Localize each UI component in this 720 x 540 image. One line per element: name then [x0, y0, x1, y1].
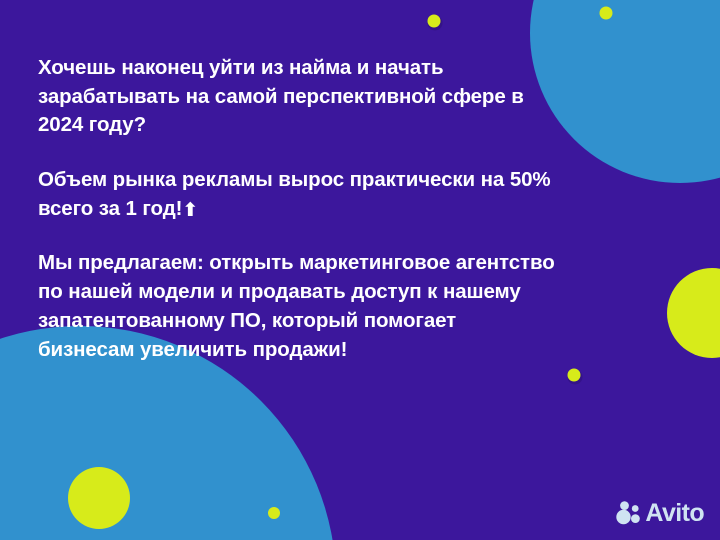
offer-text: Мы предлагаем: открыть маркетинговое аге…	[38, 249, 558, 364]
avito-dots-mark-icon	[615, 500, 641, 526]
up-arrow-icon: ⬆	[182, 201, 198, 220]
lime-dot-top-center	[428, 15, 441, 28]
avito-logo: Avito	[615, 498, 704, 528]
lime-dot-mid-right	[568, 369, 581, 382]
lime-dot-bottom-left	[268, 507, 280, 519]
market-stat-text: Объем рынка рекламы вырос практически на…	[38, 168, 551, 220]
lime-dot-top-right	[600, 7, 613, 20]
headline-question-text: Хочешь наконец уйти из найма и начать за…	[38, 56, 524, 136]
offer-text-content: Мы предлагаем: открыть маркетинговое аге…	[38, 251, 555, 360]
lime-circle-bottom-left	[68, 467, 130, 529]
banner-text-block: Хочешь наконец уйти из найма и начать за…	[38, 54, 558, 364]
promo-banner: Хочешь наконец уйти из найма и начать за…	[0, 0, 720, 540]
market-stat: Объем рынка рекламы вырос практически на…	[38, 166, 558, 223]
avito-wordmark: Avito	[645, 501, 704, 526]
headline-question: Хочешь наконец уйти из найма и начать за…	[38, 54, 558, 140]
